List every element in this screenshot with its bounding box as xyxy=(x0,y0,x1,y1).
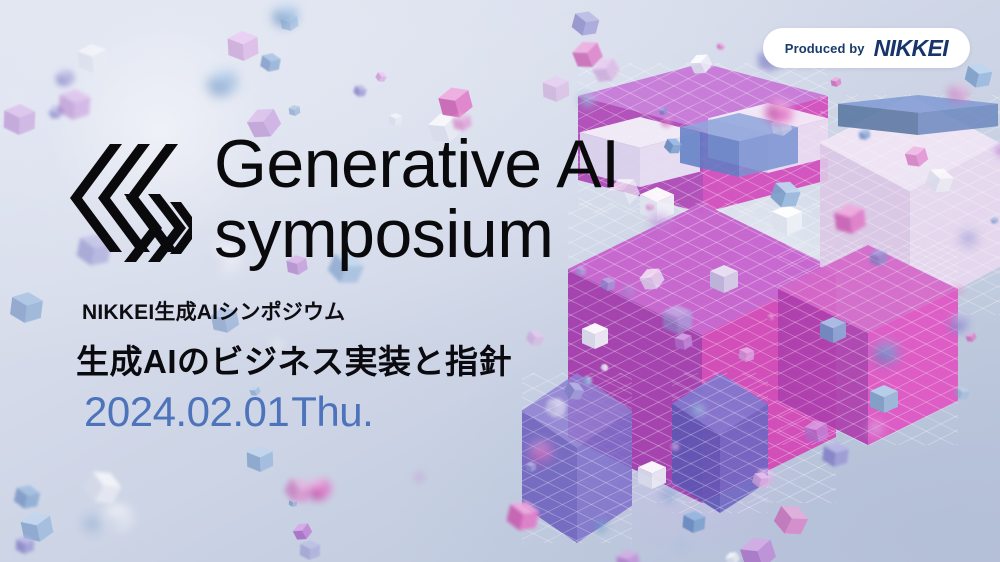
event-date-value: 2024.02.01 xyxy=(84,388,289,435)
produced-by-nikkei-badge: Produced by NIKKEI xyxy=(763,28,970,68)
event-date: 2024.02.01Thu. xyxy=(84,388,373,436)
title-block: Generative AI symposium xyxy=(214,132,620,268)
event-day-of-week: Thu. xyxy=(291,388,373,435)
title-line-2: symposium xyxy=(214,202,620,267)
nikkei-wordmark: NIKKEI xyxy=(874,35,948,62)
subtitle-small: NIKKEI生成AIシンポジウム xyxy=(82,296,345,326)
produced-by-label: Produced by xyxy=(785,41,865,56)
generative-ai-symposium-logo-icon xyxy=(68,136,192,264)
hero-banner: Produced by NIKKEI Ge xyxy=(0,0,1000,562)
subtitle-main: 生成AIのビジネス実装と指針 xyxy=(76,335,512,383)
title-line-1: Generative AI xyxy=(214,132,620,197)
hero-content: Generative AI symposium NIKKEI生成AIシンポジウム… xyxy=(0,0,1000,562)
